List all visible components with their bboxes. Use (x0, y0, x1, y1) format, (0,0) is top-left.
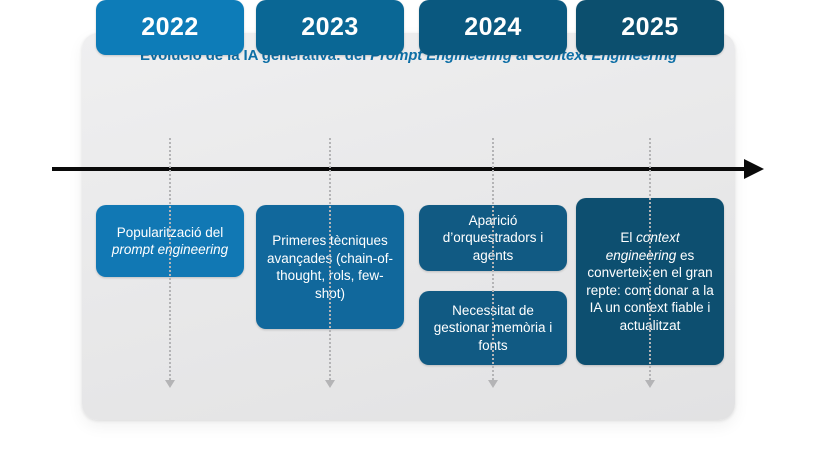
year-box-2025[interactable]: 2025 (576, 0, 724, 55)
year-label: 2023 (301, 13, 359, 42)
dotted-connector-2023 (329, 138, 331, 380)
timeline-arrow-line (52, 167, 758, 171)
dotted-connector-2025 (649, 138, 651, 380)
card-text-segment: El (620, 230, 636, 245)
year-box-2023[interactable]: 2023 (256, 0, 404, 55)
year-box-2024[interactable]: 2024 (419, 0, 567, 55)
card-text-emphasis: context engineering (606, 230, 680, 263)
dotted-arrow-head-2023 (325, 380, 335, 388)
dotted-connector-2024 (492, 138, 494, 380)
year-box-2022[interactable]: 2022 (96, 0, 244, 55)
timeline-arrow-head (744, 159, 764, 179)
dotted-arrow-head-2025 (645, 380, 655, 388)
year-label: 2022 (141, 13, 199, 42)
year-label: 2025 (621, 13, 679, 42)
year-label: 2024 (464, 13, 522, 42)
dotted-connector-2022 (169, 138, 171, 380)
dotted-arrow-head-2024 (488, 380, 498, 388)
dotted-arrow-head-2022 (165, 380, 175, 388)
